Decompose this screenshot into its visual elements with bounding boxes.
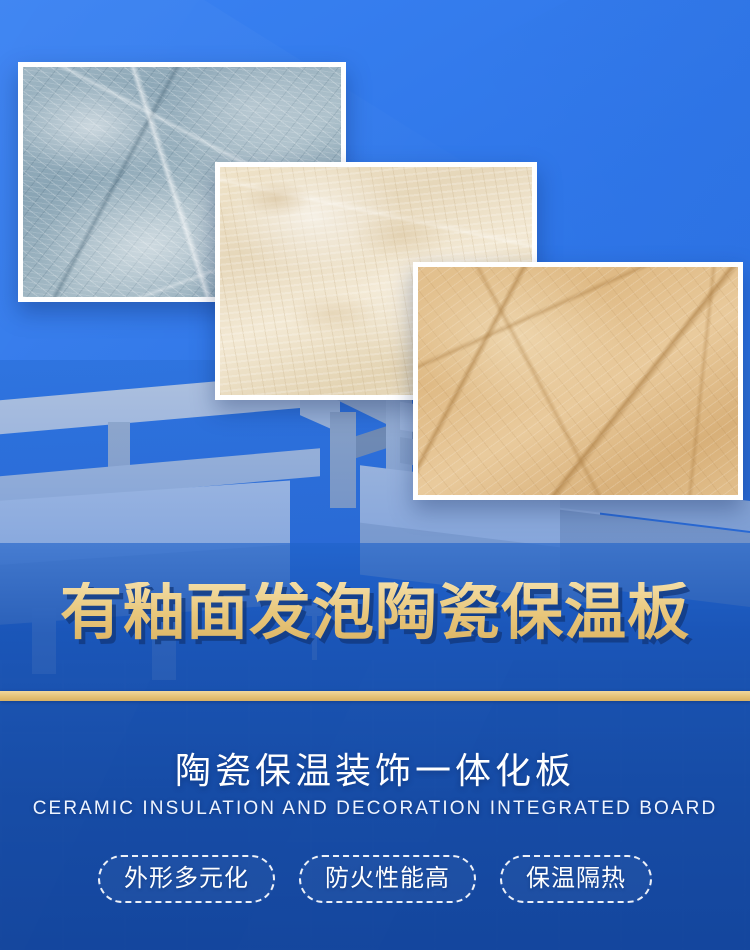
feature-badge-fire-resistance[interactable]: 防火性能高 (299, 855, 476, 903)
feature-badge-group: 外形多元化 防火性能高 保温隔热 (0, 855, 750, 903)
tile-vein-pattern (418, 267, 738, 495)
sample-tile-golden-sand-marble[interactable] (413, 262, 743, 500)
feature-badge-thermal-insulation[interactable]: 保温隔热 (500, 855, 652, 903)
subtitle-chinese: 陶瓷保温装饰一体化板 (0, 742, 750, 794)
headline-title: 有釉面发泡陶瓷保温板 (0, 582, 750, 644)
product-banner-poster: 有釉面发泡陶瓷保温板 陶瓷保温装饰一体化板 CERAMIC INSULATION… (0, 0, 750, 950)
subtitle-english: CERAMIC INSULATION AND DECORATION INTEGR… (0, 798, 750, 820)
feature-badge-shape-variety[interactable]: 外形多元化 (98, 855, 275, 903)
gold-divider-bar (0, 691, 750, 701)
